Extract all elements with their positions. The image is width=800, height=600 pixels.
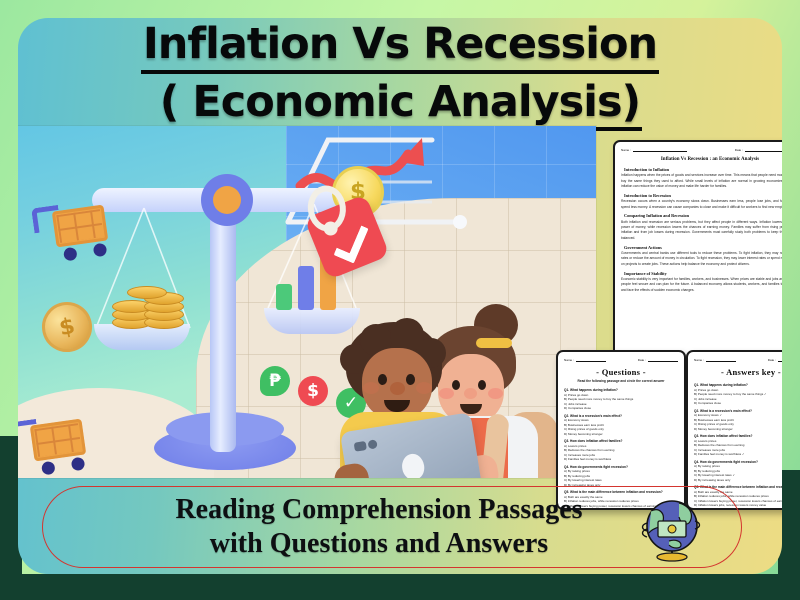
shopping-cart-icon-2 xyxy=(30,419,87,462)
name-label: Name : xyxy=(694,358,704,362)
passage-section-heading: Government Actions xyxy=(624,245,782,250)
date-label: Date : xyxy=(735,148,743,152)
passage-meta-row: Name : Date : xyxy=(621,148,782,152)
poster-title: Inflation Vs Recession ( Economic Analys… xyxy=(18,20,782,131)
question-option[interactable]: D) Families feel money is worthless ✓ xyxy=(694,452,782,457)
poster-outer-frame: Inflation Vs Recession ( Economic Analys… xyxy=(0,0,800,600)
question-text: Q2. What is a recession's main effect? xyxy=(694,409,782,413)
passage-title: Inflation Vs Recession : an Economic Ana… xyxy=(621,157,782,162)
currency-bubble-icon: ₱ xyxy=(260,366,290,396)
question-block: Q2. What is a recession's main effect?A)… xyxy=(564,414,678,437)
tablet-logo-icon xyxy=(400,452,426,478)
answers-meta-row: Name : Date : xyxy=(694,358,782,362)
question-text: Q4. How do governments fight recession? xyxy=(694,460,782,464)
passage-section-heading: Comparing Inflation and Recession xyxy=(624,213,782,218)
question-text: Q2. What is a recession's main effect? xyxy=(564,414,678,418)
question-option[interactable]: D) Companies close xyxy=(694,401,782,406)
passage-section-body: Inflation happens when the prices of goo… xyxy=(621,173,782,189)
question-text: Q3. How does inflation affect families? xyxy=(564,439,678,443)
passage-section-heading: Introduction to Inflation xyxy=(624,167,782,172)
frame-bottom-bar xyxy=(0,574,800,600)
date-label: Date : xyxy=(768,358,776,362)
dollar-bubble-icon: $ xyxy=(298,376,328,406)
answers-title: - Answers key - xyxy=(694,367,782,377)
question-block: Q4. How do governments fight recession?A… xyxy=(564,465,678,488)
hero-illustration: $ $ ₱ $ ✓ xyxy=(18,126,596,478)
question-block: Q1. What happens during inflation?A) Pri… xyxy=(694,383,782,406)
passage-section-heading: Introduction to Recession xyxy=(624,193,782,198)
passage-section-body: Recession occurs when a country's econom… xyxy=(621,199,782,210)
questions-meta-row: Name : Date : xyxy=(564,358,678,362)
question-block: Q3. How does inflation affect families?A… xyxy=(694,434,782,457)
question-text: Q1. What happens during inflation? xyxy=(694,383,782,387)
passage-section-heading: Importance of Stability xyxy=(624,271,782,276)
questions-subtitle: Read the following passage and circle th… xyxy=(564,379,678,383)
growth-bar-green xyxy=(276,284,292,310)
name-label: Name : xyxy=(564,358,574,362)
question-block: Q2. What is a recession's main effect?A)… xyxy=(694,409,782,432)
bottom-banner: Reading Comprehension Passages with Ques… xyxy=(42,486,742,568)
passage-section-body: Both inflation and recession are serious… xyxy=(621,220,782,241)
shopping-cart-icon xyxy=(52,205,109,248)
date-label: Date : xyxy=(638,358,646,362)
title-line-1: Inflation Vs Recession xyxy=(141,20,659,74)
passage-section-body: Governments and central banks use differ… xyxy=(621,251,782,267)
title-line-2: ( Economic Analysis) xyxy=(158,78,642,132)
question-block: Q3. How does inflation affect families?A… xyxy=(564,439,678,462)
student-1-face xyxy=(362,348,432,420)
question-option[interactable]: D) Money becoming stronger xyxy=(564,432,678,437)
question-text: Q4. How do governments fight recession? xyxy=(564,465,678,469)
poster-panel: Inflation Vs Recession ( Economic Analys… xyxy=(18,18,782,574)
banner-line-2: with Questions and Answers xyxy=(175,527,582,561)
name-label: Name : xyxy=(621,148,631,152)
question-block: Q1. What happens during inflation?A) Pri… xyxy=(564,388,678,411)
question-option[interactable]: D) By increasing taxes only xyxy=(694,478,782,483)
student-2-hair-band xyxy=(476,338,512,348)
question-option[interactable]: D) Companies close xyxy=(564,406,678,411)
question-text: Q1. What happens during inflation? xyxy=(564,388,678,392)
question-block: Q4. How do governments fight recession?A… xyxy=(694,460,782,483)
growth-bar-blue xyxy=(298,266,314,310)
questions-title: - Questions - xyxy=(564,367,678,377)
globe-money-icon xyxy=(639,495,705,563)
scale-pan-right xyxy=(264,308,360,334)
question-option[interactable]: D) Money becoming stronger xyxy=(694,427,782,432)
passage-sections: Introduction to InflationInflation happe… xyxy=(621,167,782,293)
question-option[interactable]: D) Families feel money is worthless xyxy=(564,457,678,462)
banner-line-1: Reading Comprehension Passages xyxy=(175,493,582,527)
worksheet-page-passage[interactable]: Name : Date : Inflation Vs Recession : a… xyxy=(613,140,782,366)
passage-section-body: Economic stability is very important for… xyxy=(621,277,782,293)
question-text: Q3. How does inflation affect families? xyxy=(694,434,782,438)
banner-text: Reading Comprehension Passages with Ques… xyxy=(175,493,582,561)
